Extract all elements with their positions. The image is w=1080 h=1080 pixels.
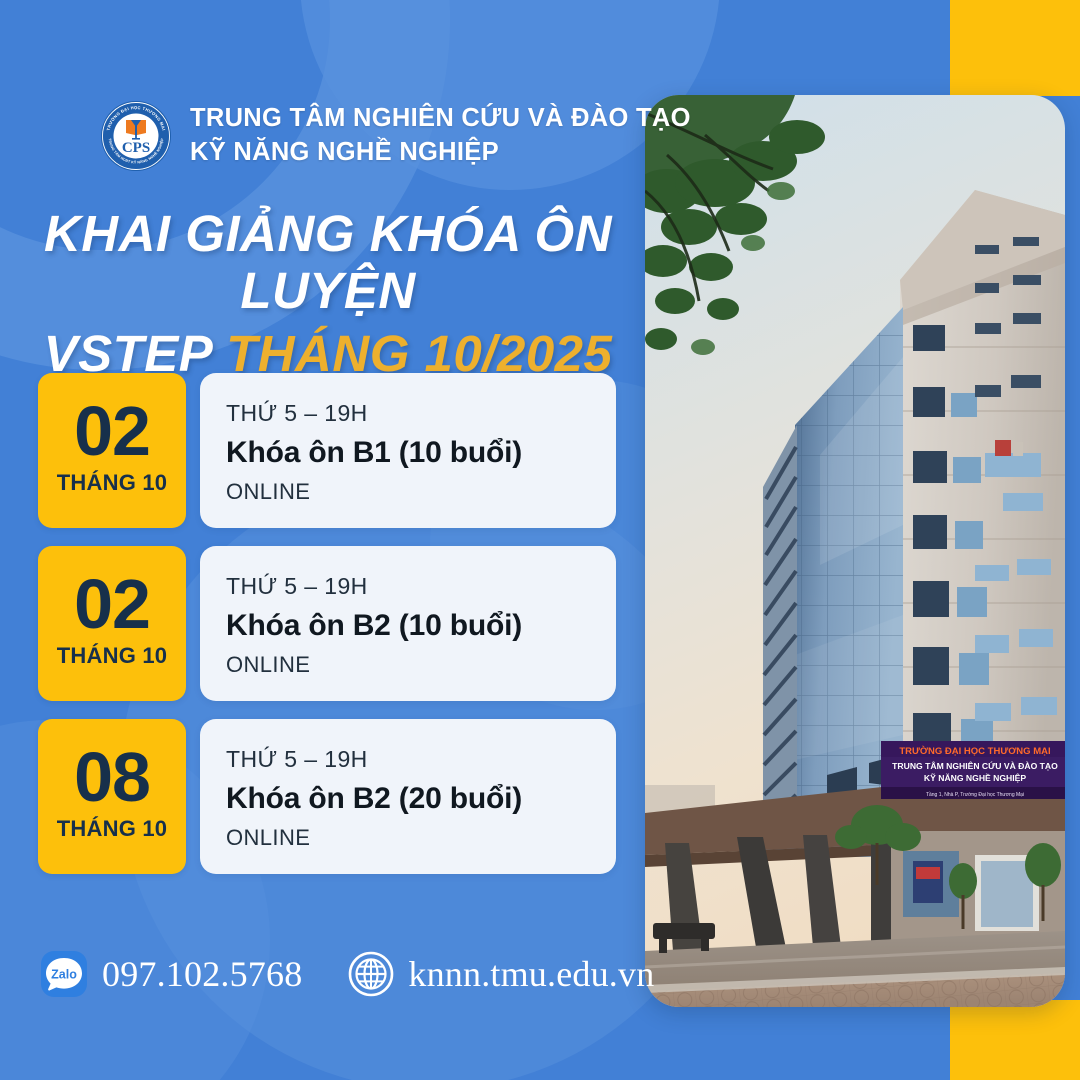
phone-number: 097.102.5768 xyxy=(102,953,302,995)
corner-accent-top-right xyxy=(950,0,1080,96)
course-time: THỨ 5 – 19H xyxy=(226,573,590,600)
website-contact[interactable]: knnn.tmu.edu.vn xyxy=(348,951,654,997)
title-line-1: KHAI GIẢNG KHÓA ÔN LUYỆN xyxy=(18,205,638,319)
date-badge: 02 THÁNG 10 xyxy=(38,373,186,528)
schedule-item[interactable]: 02 THÁNG 10 THỨ 5 – 19H Khóa ôn B2 (10 b… xyxy=(38,546,616,701)
course-card: THỨ 5 – 19H Khóa ôn B2 (20 buổi) ONLINE xyxy=(200,719,616,874)
schedule-list: 02 THÁNG 10 THỨ 5 – 19H Khóa ôn B1 (10 b… xyxy=(38,373,616,874)
globe-icon[interactable] xyxy=(348,951,394,997)
date-day: 08 xyxy=(74,745,150,809)
date-day: 02 xyxy=(74,399,150,463)
phone-contact[interactable]: Zalo 097.102.5768 xyxy=(40,950,302,998)
schedule-item[interactable]: 08 THÁNG 10 THỨ 5 – 19H Khóa ôn B2 (20 b… xyxy=(38,719,616,874)
course-mode: ONLINE xyxy=(226,479,590,505)
cps-center-logo: TRƯỜNG ĐẠI HỌC THƯƠNG MẠI TRUNG TÂM NCĐT… xyxy=(100,100,172,172)
organization-name: TRUNG TÂM NGHIÊN CỨU VÀ ĐÀO TẠO KỸ NĂNG … xyxy=(190,102,691,169)
date-day: 02 xyxy=(74,572,150,636)
svg-text:CPS: CPS xyxy=(122,140,150,156)
svg-text:Zalo: Zalo xyxy=(51,968,77,982)
course-time: THỨ 5 – 19H xyxy=(226,400,590,427)
course-mode: ONLINE xyxy=(226,825,590,851)
website-url: knnn.tmu.edu.vn xyxy=(408,953,654,995)
building-photo: TRƯỜNG ĐẠI HỌC THƯƠNG MẠI TRUNG TÂM NGHI… xyxy=(645,95,1065,1007)
svg-text:TRUNG TÂM NGHIÊN CỨU VÀ ĐÀO TẠ: TRUNG TÂM NGHIÊN CỨU VÀ ĐÀO TẠO xyxy=(892,760,1058,771)
svg-text:KỸ NĂNG NGHỀ NGHIỆP: KỸ NĂNG NGHỀ NGHIỆP xyxy=(924,772,1026,783)
date-month: THÁNG 10 xyxy=(57,816,167,842)
course-card: THỨ 5 – 19H Khóa ôn B2 (10 buổi) ONLINE xyxy=(200,546,616,701)
course-name: Khóa ôn B1 (10 buổi) xyxy=(226,436,590,470)
promotional-poster: TRƯỜNG ĐẠI HỌC THƯƠNG MẠI TRUNG TÂM NGHI… xyxy=(0,0,1080,1080)
corner-accent-bottom-right xyxy=(950,1000,1080,1080)
schedule-item[interactable]: 02 THÁNG 10 THỨ 5 – 19H Khóa ôn B1 (10 b… xyxy=(38,373,616,528)
zalo-icon[interactable]: Zalo xyxy=(40,950,88,998)
svg-text:TRƯỜNG ĐẠI HỌC THƯƠNG MẠI: TRƯỜNG ĐẠI HỌC THƯƠNG MẠI xyxy=(899,745,1050,757)
course-time: THỨ 5 – 19H xyxy=(226,746,590,773)
course-name: Khóa ôn B2 (20 buổi) xyxy=(226,782,590,816)
svg-text:Tầng 1, Nhà P, Trường Đại học: Tầng 1, Nhà P, Trường Đại học Thương Mại xyxy=(926,792,1024,798)
date-month: THÁNG 10 xyxy=(57,643,167,669)
course-card: THỨ 5 – 19H Khóa ôn B1 (10 buổi) ONLINE xyxy=(200,373,616,528)
date-badge: 08 THÁNG 10 xyxy=(38,719,186,874)
footer-contacts: Zalo 097.102.5768 knnn.tmu.edu.vn xyxy=(40,950,654,998)
date-badge: 02 THÁNG 10 xyxy=(38,546,186,701)
course-mode: ONLINE xyxy=(226,652,590,678)
course-name: Khóa ôn B2 (10 buổi) xyxy=(226,609,590,643)
header: TRƯỜNG ĐẠI HỌC THƯƠNG MẠI TRUNG TÂM NCĐT… xyxy=(100,100,691,172)
poster-title: KHAI GIẢNG KHÓA ÔN LUYỆN VSTEP THÁNG 10/… xyxy=(18,205,638,382)
date-month: THÁNG 10 xyxy=(57,470,167,496)
